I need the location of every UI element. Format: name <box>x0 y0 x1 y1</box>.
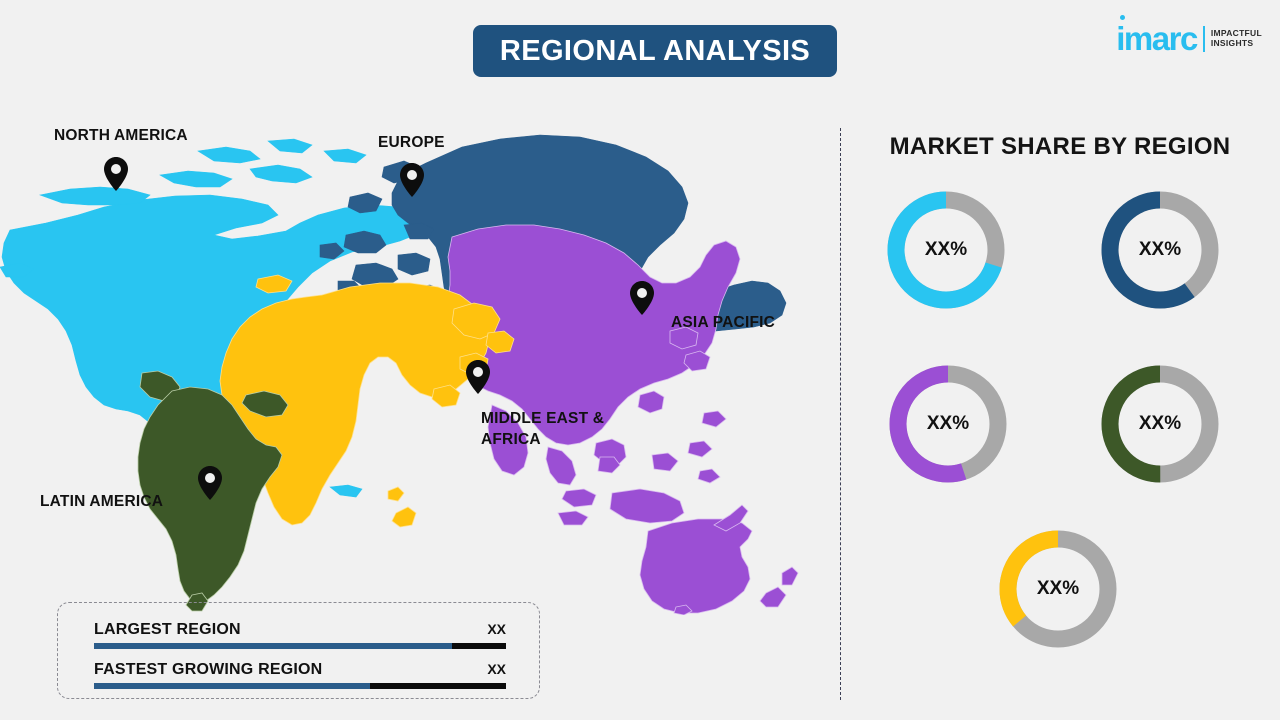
legend-progress-track <box>94 643 506 649</box>
logo-tagline-line2: INSIGHTS <box>1211 39 1262 49</box>
map-pin-asia-pacific[interactable] <box>630 281 654 320</box>
legend-value: XX <box>487 621 506 637</box>
map-pin-europe[interactable] <box>400 163 424 202</box>
map-label-asia-pacific: ASIA PACIFIC <box>671 313 775 334</box>
legend-label: LARGEST REGION <box>94 621 241 639</box>
map-pin-north-america[interactable] <box>104 157 128 196</box>
donut-middle-east-africa: XX% <box>996 527 1120 651</box>
legend-label: FASTEST GROWING REGION <box>94 661 322 679</box>
page-title-banner: REGIONAL ANALYSIS <box>473 25 837 77</box>
legend-value: XX <box>487 661 506 677</box>
logo-tagline: IMPACTFUL INSIGHTS <box>1211 29 1262 49</box>
donut-europe: XX% <box>1098 188 1222 312</box>
map-label-europe: EUROPE <box>378 133 445 154</box>
region-legend-box: LARGEST REGION XX FASTEST GROWING REGION… <box>57 602 540 699</box>
donut-value-label: XX% <box>884 188 1008 312</box>
legend-head: LARGEST REGION XX <box>94 621 506 639</box>
map-pin-middle-east-africa[interactable] <box>466 360 490 399</box>
page-title: REGIONAL ANALYSIS <box>500 35 810 68</box>
legend-row-largest-region: LARGEST REGION XX <box>94 621 506 649</box>
world-map-panel <box>0 95 830 615</box>
map-label-middle-east-africa: MIDDLE EAST & AFRICA <box>481 409 604 451</box>
location-pin-icon <box>198 466 222 500</box>
legend-row-fastest-growing-region: FASTEST GROWING REGION XX <box>94 661 506 689</box>
donut-value-label: XX% <box>996 527 1120 651</box>
donut-latin-america: XX% <box>1098 362 1222 486</box>
legend-head: FASTEST GROWING REGION XX <box>94 661 506 679</box>
donut-value-label: XX% <box>1098 362 1222 486</box>
legend-progress-track <box>94 683 506 689</box>
donut-value-label: XX% <box>886 362 1010 486</box>
donut-value-label: XX% <box>1098 188 1222 312</box>
map-pin-latin-america[interactable] <box>198 466 222 505</box>
imarc-logo: imarc IMPACTFUL INSIGHTS <box>1116 22 1262 55</box>
legend-progress-fill <box>94 643 452 649</box>
logo-word-text: imarc <box>1116 20 1197 57</box>
legend-progress-fill <box>94 683 370 689</box>
location-pin-icon <box>400 163 424 197</box>
donut-asia-pacific: XX% <box>886 362 1010 486</box>
map-label-latin-america: LATIN AMERICA <box>40 492 163 513</box>
location-pin-icon <box>630 281 654 315</box>
panel-divider <box>840 128 841 700</box>
donut-north-america: XX% <box>884 188 1008 312</box>
logo-divider-bar <box>1203 26 1205 52</box>
logo-wordmark: imarc <box>1116 22 1197 55</box>
map-label-north-america: NORTH AMERICA <box>54 126 188 147</box>
location-pin-icon <box>466 360 490 394</box>
location-pin-icon <box>104 157 128 191</box>
infographic-slide: REGIONAL ANALYSIS imarc IMPACTFUL INSIGH… <box>0 0 1280 720</box>
market-share-title: MARKET SHARE BY REGION <box>840 133 1280 161</box>
